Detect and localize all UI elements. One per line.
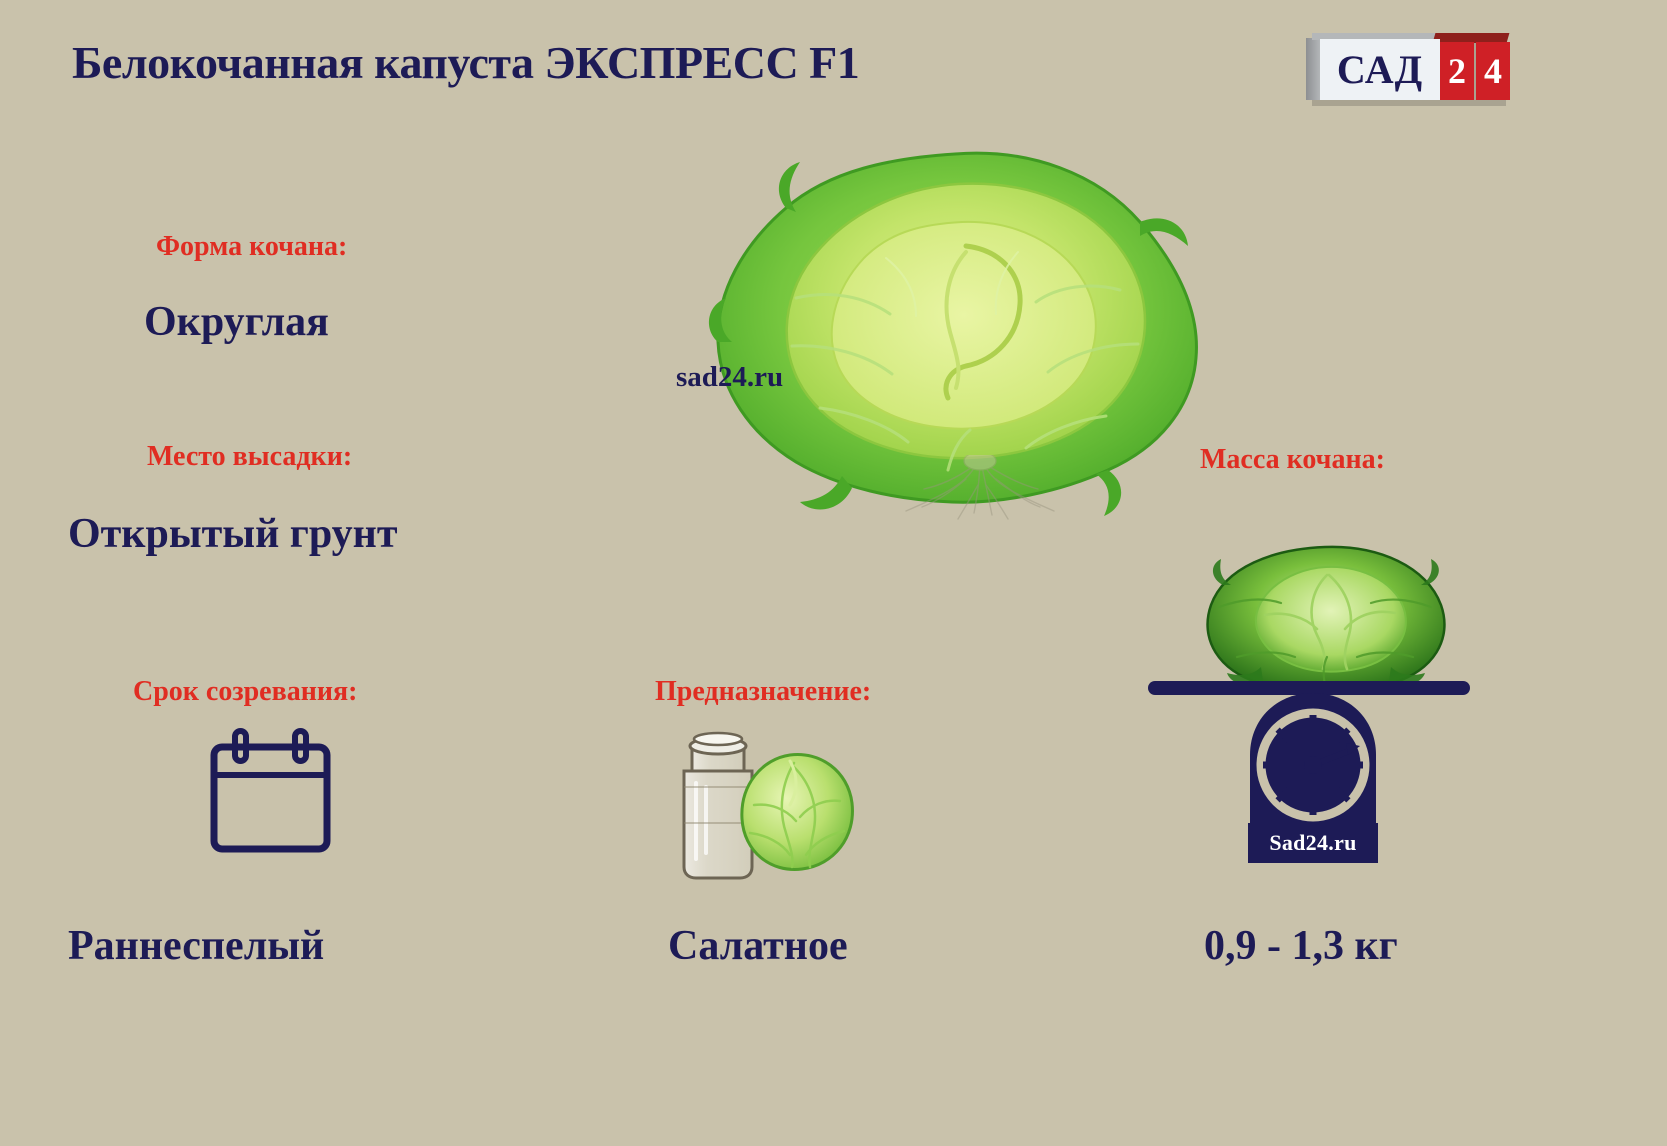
cabbage-on-scale-icon: [1203, 545, 1448, 690]
sad24-logo[interactable]: САД 2 4: [1306, 33, 1506, 106]
value-ripening-period: Раннеспелый: [68, 922, 324, 970]
value-head-weight: 0,9 - 1,3 кг: [1204, 922, 1398, 970]
label-planting-place: Место высадки:: [147, 441, 352, 473]
roots-icon: [880, 455, 1080, 525]
label-ripening-period: Срок созревания:: [133, 676, 357, 708]
logo-word-panel: САД: [1320, 39, 1440, 100]
jar-and-cabbage-icon: [662, 727, 857, 882]
label-purpose: Предназначение:: [655, 676, 871, 708]
page-title: Белокочанная капуста ЭКСПРЕСС F1: [72, 36, 859, 89]
label-head-shape: Форма кочана:: [156, 231, 347, 263]
logo-digit-2: 2: [1440, 42, 1474, 100]
infographic-page: Белокочанная капуста ЭКСПРЕСС F1 САД 2 4…: [0, 0, 1667, 1146]
value-planting-place: Открытый грунт: [68, 510, 397, 558]
kitchen-scale-icon: Sad24.ru: [1148, 545, 1478, 870]
logo-word-sad: САД: [1337, 50, 1423, 90]
logo-digit-4: 4: [1476, 42, 1510, 100]
value-head-shape: Округлая: [144, 298, 329, 346]
watermark-sad24: sad24.ru: [676, 361, 783, 394]
calendar-icon: [208, 727, 333, 857]
label-head-weight: Масса кочана:: [1200, 444, 1385, 476]
value-purpose: Салатное: [668, 922, 848, 970]
watermark-sad24-scale: Sad24.ru: [1248, 823, 1378, 863]
